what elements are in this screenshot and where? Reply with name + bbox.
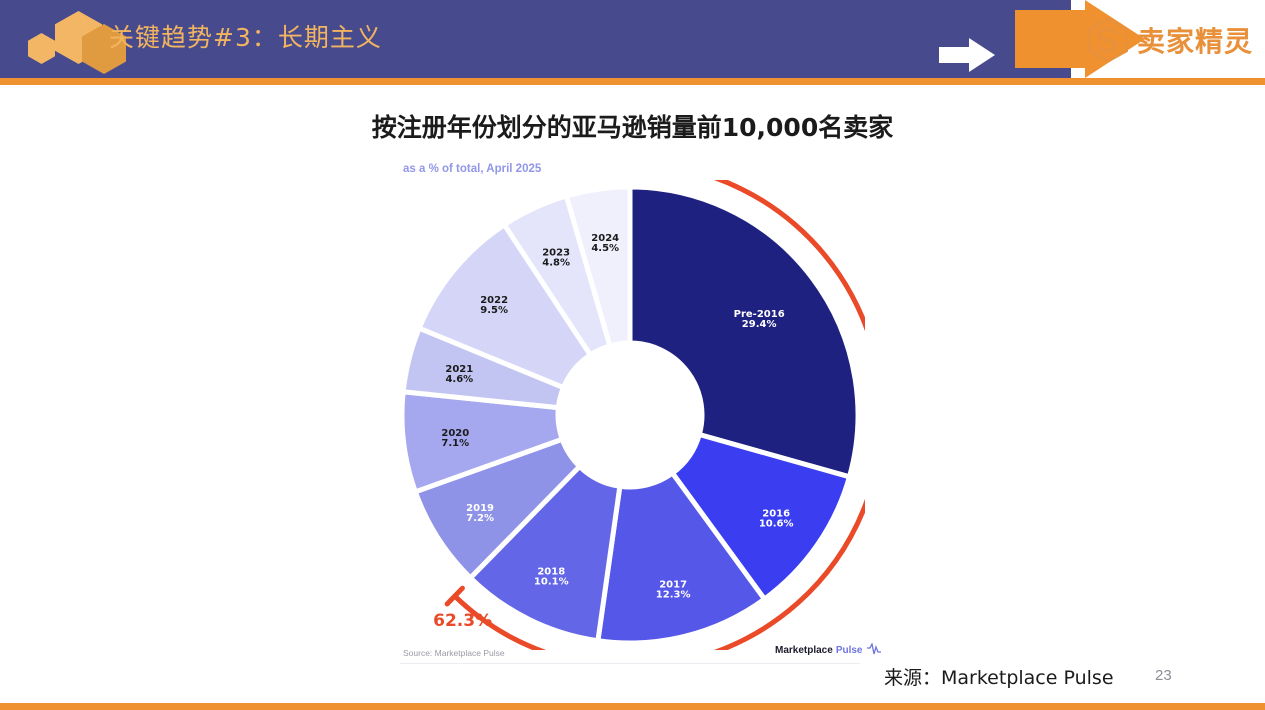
header-divider (0, 78, 1265, 85)
brand-logo: 卖家精灵 (1088, 18, 1253, 62)
chart-subtitle: as a % of total, April 2025 (403, 163, 541, 175)
slice-label: 20234.8% (542, 247, 570, 268)
chart-baseline-divider (400, 663, 860, 664)
pie-slice (630, 187, 858, 477)
header-title: 关键趋势#3：长期主义 (109, 18, 382, 54)
slice-label: 20229.5% (480, 295, 508, 316)
watermark-word-2: Pulse (836, 645, 863, 656)
slice-label: 201810.1% (534, 567, 569, 588)
marketplace-pulse-watermark: Marketplace Pulse (775, 643, 882, 657)
arrow-orange-body (1015, 10, 1090, 68)
watermark-word-1: Marketplace (775, 645, 833, 656)
page-title: 按注册年份划分的亚马逊销量前10,000名卖家 (0, 108, 1265, 144)
slice-label: 201610.6% (759, 509, 794, 530)
donut-svg: Pre-201629.4%201610.6%201712.3%201810.1%… (395, 180, 865, 650)
pulse-wave-icon (866, 643, 882, 657)
footer-divider (0, 703, 1265, 710)
arrow-white-head (969, 38, 995, 72)
brand-name: 卖家精灵 (1137, 20, 1253, 60)
page-number: 23 (1155, 667, 1172, 684)
slice-label: 20207.1% (441, 428, 469, 449)
donut-chart: as a % of total, April 2025 Pre-201629.4… (395, 155, 865, 665)
annotation-62-label: 62.3% (433, 611, 492, 631)
hexagons-decor-icon (28, 33, 55, 64)
donut-plot: Pre-201629.4%201610.6%201712.3%201810.1%… (395, 180, 865, 650)
footer-source: 来源：Marketplace Pulse (884, 663, 1114, 690)
slice-label: 201712.3% (656, 580, 691, 601)
hexagon-s-logo-icon (1088, 18, 1128, 62)
slice-label: 20214.6% (445, 364, 473, 385)
chart-source-note: Source: Marketplace Pulse (403, 648, 505, 658)
slice-label: 20244.5% (591, 233, 619, 254)
slice-label: 20197.2% (466, 503, 494, 524)
